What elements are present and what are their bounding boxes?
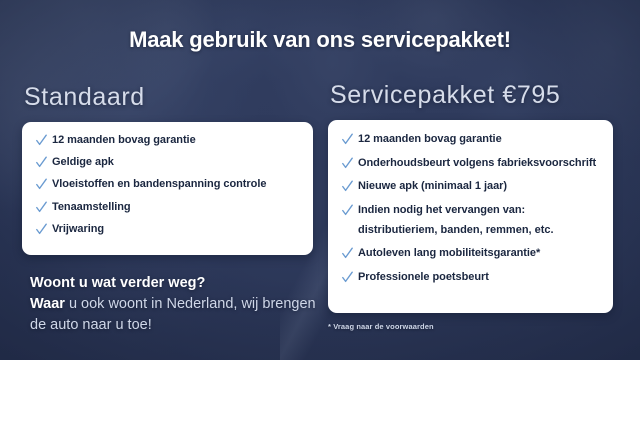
check-icon	[36, 156, 47, 169]
check-icon	[36, 223, 47, 236]
list-item-label: Indien nodig het vervangen van:	[358, 204, 525, 217]
service-package-banner: Maak gebruik van ons servicepakket! Stan…	[0, 0, 640, 427]
list-item-label: Onderhoudsbeurt volgens fabrieksvoorschr…	[358, 157, 596, 170]
promo-question: Woont u wat verder weg?	[30, 273, 320, 294]
list-item: Indien nodig het vervangen van:	[342, 204, 599, 217]
check-icon	[36, 134, 47, 147]
list-item: Professionele poetsbeurt	[342, 271, 599, 284]
standard-column-heading: Standaard	[24, 83, 145, 112]
list-item-label: Nieuwe apk (minimaal 1 jaar)	[358, 180, 507, 193]
conditions-footnote: * Vraag naar de voorwaarden	[328, 322, 434, 331]
list-item: Geldige apk	[36, 156, 299, 169]
list-item: Onderhoudsbeurt volgens fabrieksvoorschr…	[342, 157, 599, 170]
list-item-label: Geldige apk	[52, 156, 114, 169]
promo-body: u ook woont in Nederland, wij brengen de…	[30, 296, 316, 333]
list-item-label: 12 maanden bovag garantie	[358, 133, 502, 146]
list-item: 12 maanden bovag garantie	[36, 134, 299, 147]
list-item-label: Vrijwaring	[52, 223, 104, 236]
check-icon	[36, 201, 47, 214]
list-item-continuation: distributieriem, banden, remmen, etc.	[358, 224, 599, 237]
list-item-label: Autoleven lang mobiliteitsgarantie*	[358, 247, 540, 260]
check-icon	[342, 180, 353, 193]
list-item: 12 maanden bovag garantie	[342, 133, 599, 146]
footer-bar: Meer informatie: wijnne.nl AUTOBEDRIJF W…	[0, 360, 640, 427]
list-item: Vloeistoffen en bandenspanning controle	[36, 178, 299, 191]
service-package-column-heading: Servicepakket €795	[330, 81, 560, 110]
standard-features-card: 12 maanden bovag garantie Geldige apk Vl…	[22, 122, 313, 255]
check-icon	[36, 178, 47, 191]
list-item-label: Tenaamstelling	[52, 201, 131, 214]
list-item-label: 12 maanden bovag garantie	[52, 134, 196, 147]
check-icon	[342, 204, 353, 217]
list-item: Nieuwe apk (minimaal 1 jaar)	[342, 180, 599, 193]
list-item: Tenaamstelling	[36, 201, 299, 214]
list-item: Vrijwaring	[36, 223, 299, 236]
check-icon	[342, 271, 353, 284]
list-item-label: Professionele poetsbeurt	[358, 271, 489, 284]
check-icon	[342, 157, 353, 170]
check-icon	[342, 133, 353, 146]
page-title: Maak gebruik van ons servicepakket!	[0, 27, 640, 53]
service-package-features-card: 12 maanden bovag garantie Onderhoudsbeur…	[328, 120, 613, 313]
delivery-promo-text: Woont u wat verder weg?Waar u ook woont …	[30, 273, 320, 336]
list-item: Autoleven lang mobiliteitsgarantie*	[342, 247, 599, 260]
list-item-label: Vloeistoffen en bandenspanning controle	[52, 178, 266, 191]
check-icon	[342, 247, 353, 260]
promo-lead-bold: Waar	[30, 296, 65, 312]
